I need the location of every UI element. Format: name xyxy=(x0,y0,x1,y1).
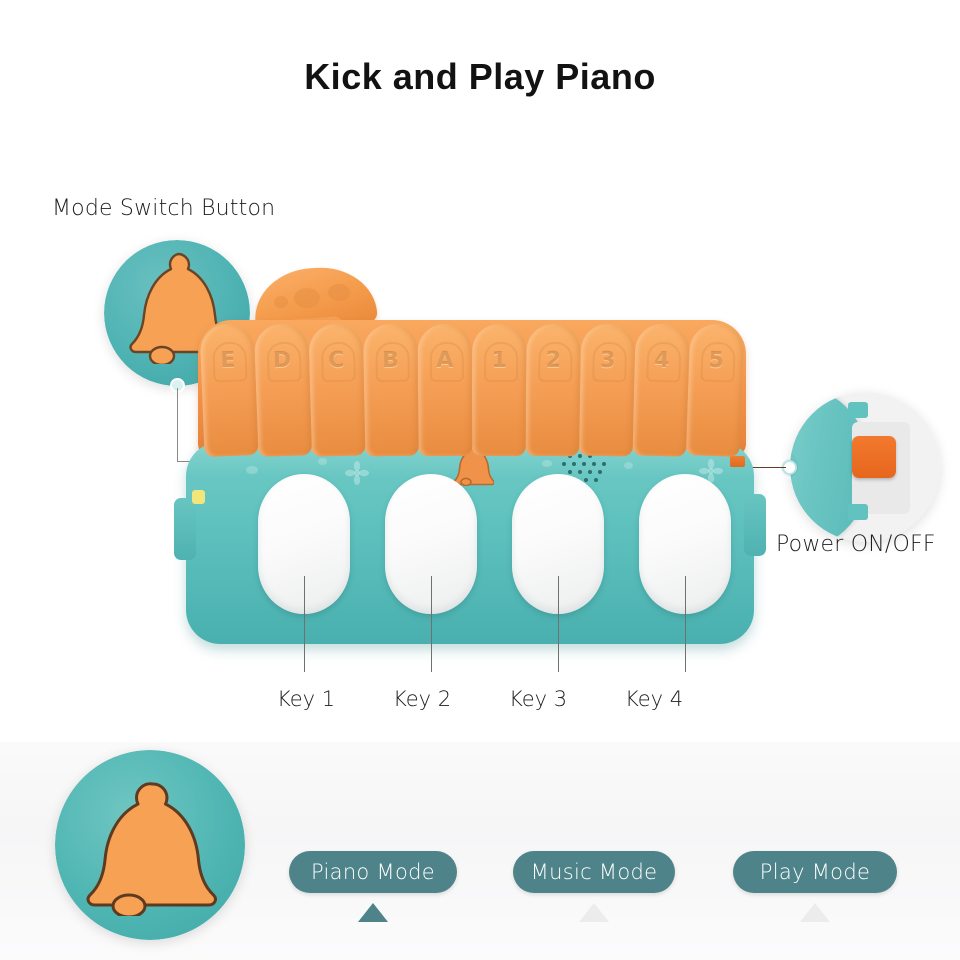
key-label: Key 1 xyxy=(277,687,335,711)
orange-key-glyph: E xyxy=(200,347,255,374)
orange-key[interactable]: C xyxy=(309,323,366,456)
teal-detail-bottom xyxy=(848,504,868,520)
mode-indicator-triangle xyxy=(358,903,388,922)
key-label: Key 3 xyxy=(509,687,567,711)
bell-icon xyxy=(83,776,219,916)
key-leader-line xyxy=(558,576,559,672)
mushroom-dimple xyxy=(328,284,350,301)
infographic-stage: Kick and Play Piano Mode Switch Button P… xyxy=(0,0,960,960)
mode-button-label: Music Mode xyxy=(531,860,658,884)
orange-key-glyph: 2 xyxy=(526,348,580,374)
mushroom-dimple xyxy=(294,288,320,308)
body-emboss xyxy=(542,460,552,467)
orange-key[interactable]: 1 xyxy=(472,324,527,456)
side-tab-right xyxy=(744,494,766,556)
orange-key[interactable]: 5 xyxy=(685,323,744,457)
mode-switch-leader-vertical xyxy=(177,388,178,462)
callout-disc xyxy=(790,392,940,542)
orange-key[interactable]: D xyxy=(254,323,312,457)
mode-button-label: Piano Mode xyxy=(311,860,435,884)
mode-button-music-mode[interactable]: Music Mode xyxy=(513,851,675,893)
power-callout-circle xyxy=(790,392,940,542)
key-leader-line xyxy=(685,576,686,672)
body-emboss xyxy=(624,462,633,469)
orange-key[interactable]: 3 xyxy=(579,323,636,456)
key-leader-line xyxy=(431,576,432,672)
orange-key-glyph: B xyxy=(363,348,417,374)
orange-key-glyph: D xyxy=(255,347,310,374)
orange-key[interactable]: 4 xyxy=(632,323,690,457)
mode-button-piano-mode[interactable]: Piano Mode xyxy=(289,851,457,893)
page-title: Kick and Play Piano xyxy=(0,56,960,98)
body-emboss xyxy=(246,466,258,474)
orange-key[interactable]: 2 xyxy=(525,324,581,457)
side-tab-left xyxy=(174,498,196,560)
power-label: Power ON/OFF xyxy=(776,532,936,557)
body-emboss xyxy=(318,458,327,465)
mode-indicator-triangle xyxy=(800,903,830,922)
teal-detail-top xyxy=(848,402,868,418)
power-switch-icon xyxy=(852,436,896,478)
mode-switch-label: Mode Switch Button xyxy=(52,196,275,221)
mushroom-dimple xyxy=(274,296,288,308)
orange-key-glyph: 3 xyxy=(580,347,635,373)
mode-button-label: Play Mode xyxy=(760,860,870,884)
flower-emboss xyxy=(344,460,370,486)
orange-key-glyph: A xyxy=(418,348,472,373)
orange-key-glyph: C xyxy=(309,347,364,373)
key-leader-line xyxy=(304,576,305,672)
orange-key-glyph: 4 xyxy=(635,347,690,374)
mode-button-play-mode[interactable]: Play Mode xyxy=(733,851,897,893)
orange-key[interactable]: A xyxy=(418,324,473,456)
orange-key[interactable]: E xyxy=(199,323,258,457)
key-label: Key 4 xyxy=(625,687,683,711)
power-switch-on-toy[interactable] xyxy=(730,456,745,467)
piano-toy-illustration: EDCBA12345 xyxy=(186,262,754,652)
orange-key-glyph: 1 xyxy=(472,348,526,373)
orange-key[interactable]: B xyxy=(363,324,419,457)
mode-indicator-triangle xyxy=(579,903,609,922)
orange-key-glyph: 5 xyxy=(689,347,744,374)
bell-feature-circle xyxy=(55,750,245,940)
key-label: Key 2 xyxy=(393,687,451,711)
yellow-detail xyxy=(192,490,205,504)
